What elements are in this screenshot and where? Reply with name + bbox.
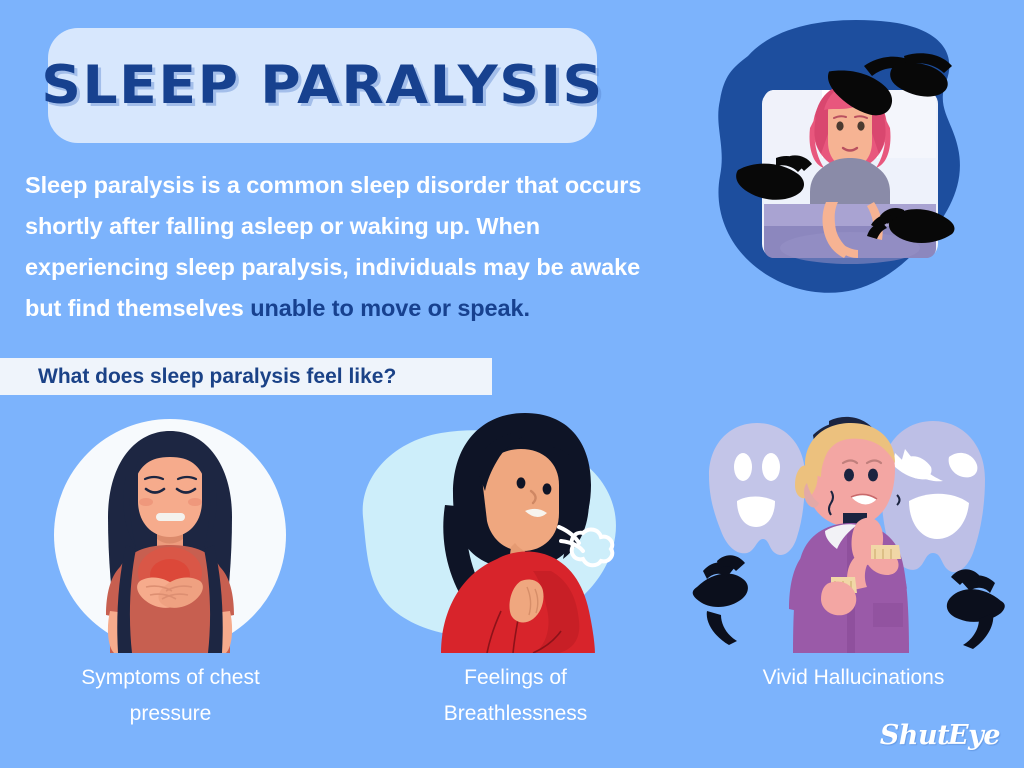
logo-text-eye: Eye: [948, 720, 1000, 751]
symptom-card-caption: Vivid Hallucinations: [683, 660, 1024, 696]
section-header-label: What does sleep paralysis feel like?: [38, 358, 396, 395]
intro-highlight: unable to move or speak.: [250, 295, 530, 321]
woman-hands-on-chest-illustration: [0, 405, 341, 653]
symptom-card-chest-pressure: Symptoms of chest pressure: [0, 405, 341, 745]
caption-line-2: pressure: [0, 696, 341, 732]
caption-line-1: Symptoms of chest: [0, 660, 341, 696]
caption-line-2: Breathlessness: [345, 696, 686, 732]
symptom-card-breathlessness: Feelings of Breathlessness: [345, 405, 686, 745]
section-header-band: What does sleep paralysis feel like?: [0, 358, 492, 395]
person-in-bed-with-dark-hands-illustration: [690, 16, 1010, 308]
intro-paragraph: Sleep paralysis is a common sleep disord…: [25, 165, 680, 329]
caption-line-1: Vivid Hallucinations: [683, 660, 1024, 696]
page-title: SLEEP PARALYSIS: [37, 28, 608, 143]
symptom-card-caption: Symptoms of chest pressure: [0, 660, 341, 732]
symptom-cards: Symptoms of chest pressure: [0, 405, 1024, 745]
shuteye-logo: ShutEye: [880, 720, 1000, 751]
symptom-card-caption: Feelings of Breathlessness: [345, 660, 686, 732]
logo-text-shut: Shut: [880, 720, 949, 751]
woman-breathless-illustration: [345, 405, 686, 653]
caption-line-1: Feelings of: [345, 660, 686, 696]
infographic-poster: SLEEP PARALYSIS Sleep paralysis is a com…: [0, 0, 1024, 768]
person-with-ghosts-illustration: [683, 405, 1024, 653]
symptom-card-vivid-hallucinations: Vivid Hallucinations: [683, 405, 1024, 745]
title-pill: SLEEP PARALYSIS: [48, 28, 597, 143]
